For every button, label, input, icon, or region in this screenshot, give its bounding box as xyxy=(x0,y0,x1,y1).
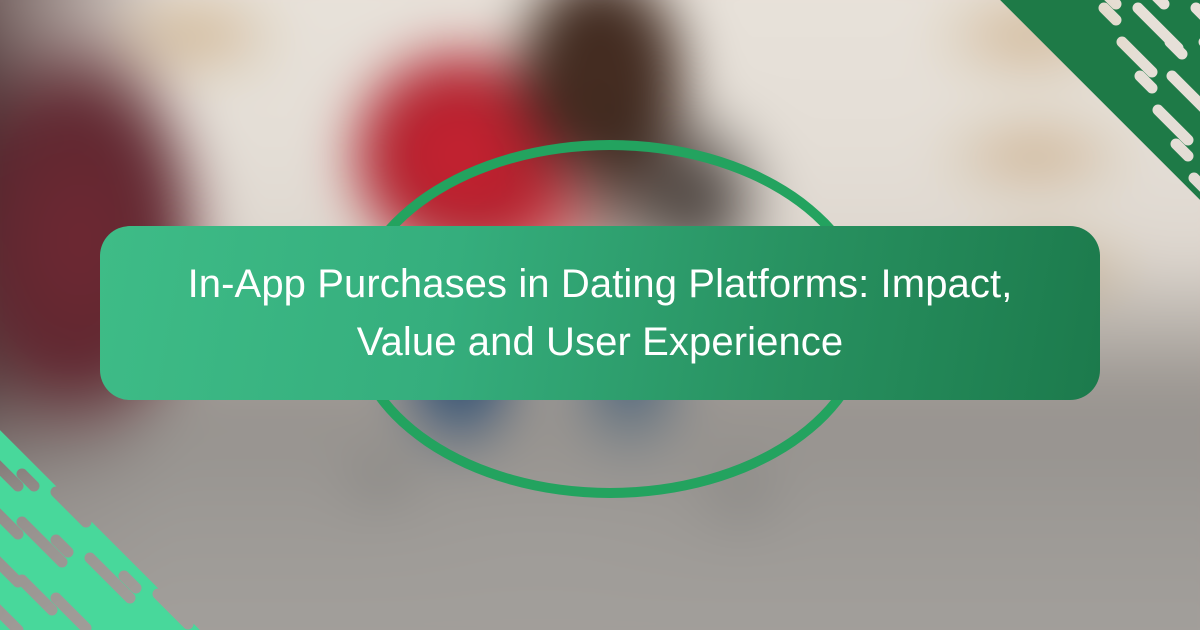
page-title: In-App Purchases in Dating Platforms: Im… xyxy=(148,255,1052,371)
title-card: In-App Purchases in Dating Platforms: Im… xyxy=(100,226,1100,400)
dashed-triangle-top-right-icon xyxy=(1000,0,1200,200)
dashed-triangle-bottom-left-icon xyxy=(0,430,200,630)
social-card-canvas: In-App Purchases in Dating Platforms: Im… xyxy=(0,0,1200,630)
